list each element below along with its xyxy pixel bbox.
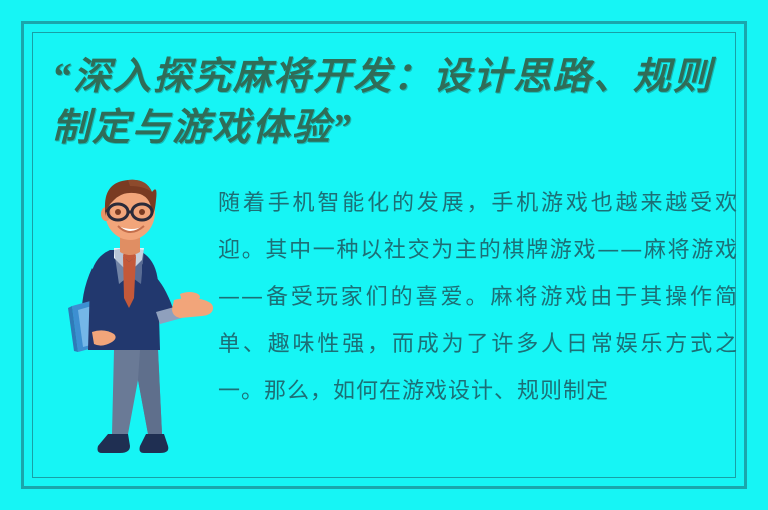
page-title: “深入探究麻将开发：设计思路、规则 制定与游戏体验” — [52, 52, 732, 155]
shoe-left — [98, 434, 131, 453]
poster-canvas: “深入探究麻将开发：设计思路、规则 制定与游戏体验” 随着手机智能化的发展，手机… — [0, 0, 768, 510]
eye-left — [115, 209, 121, 215]
shoe-right — [140, 434, 169, 453]
eye-right — [139, 209, 145, 215]
trousers-shadow — [138, 350, 162, 434]
body-paragraph: 随着手机智能化的发展，手机游戏也越来越受欢迎。其中一种以社交为主的棋牌游戏——麻… — [218, 180, 738, 415]
hand-right — [172, 292, 213, 318]
businessman-presenting-illustration — [62, 172, 222, 482]
